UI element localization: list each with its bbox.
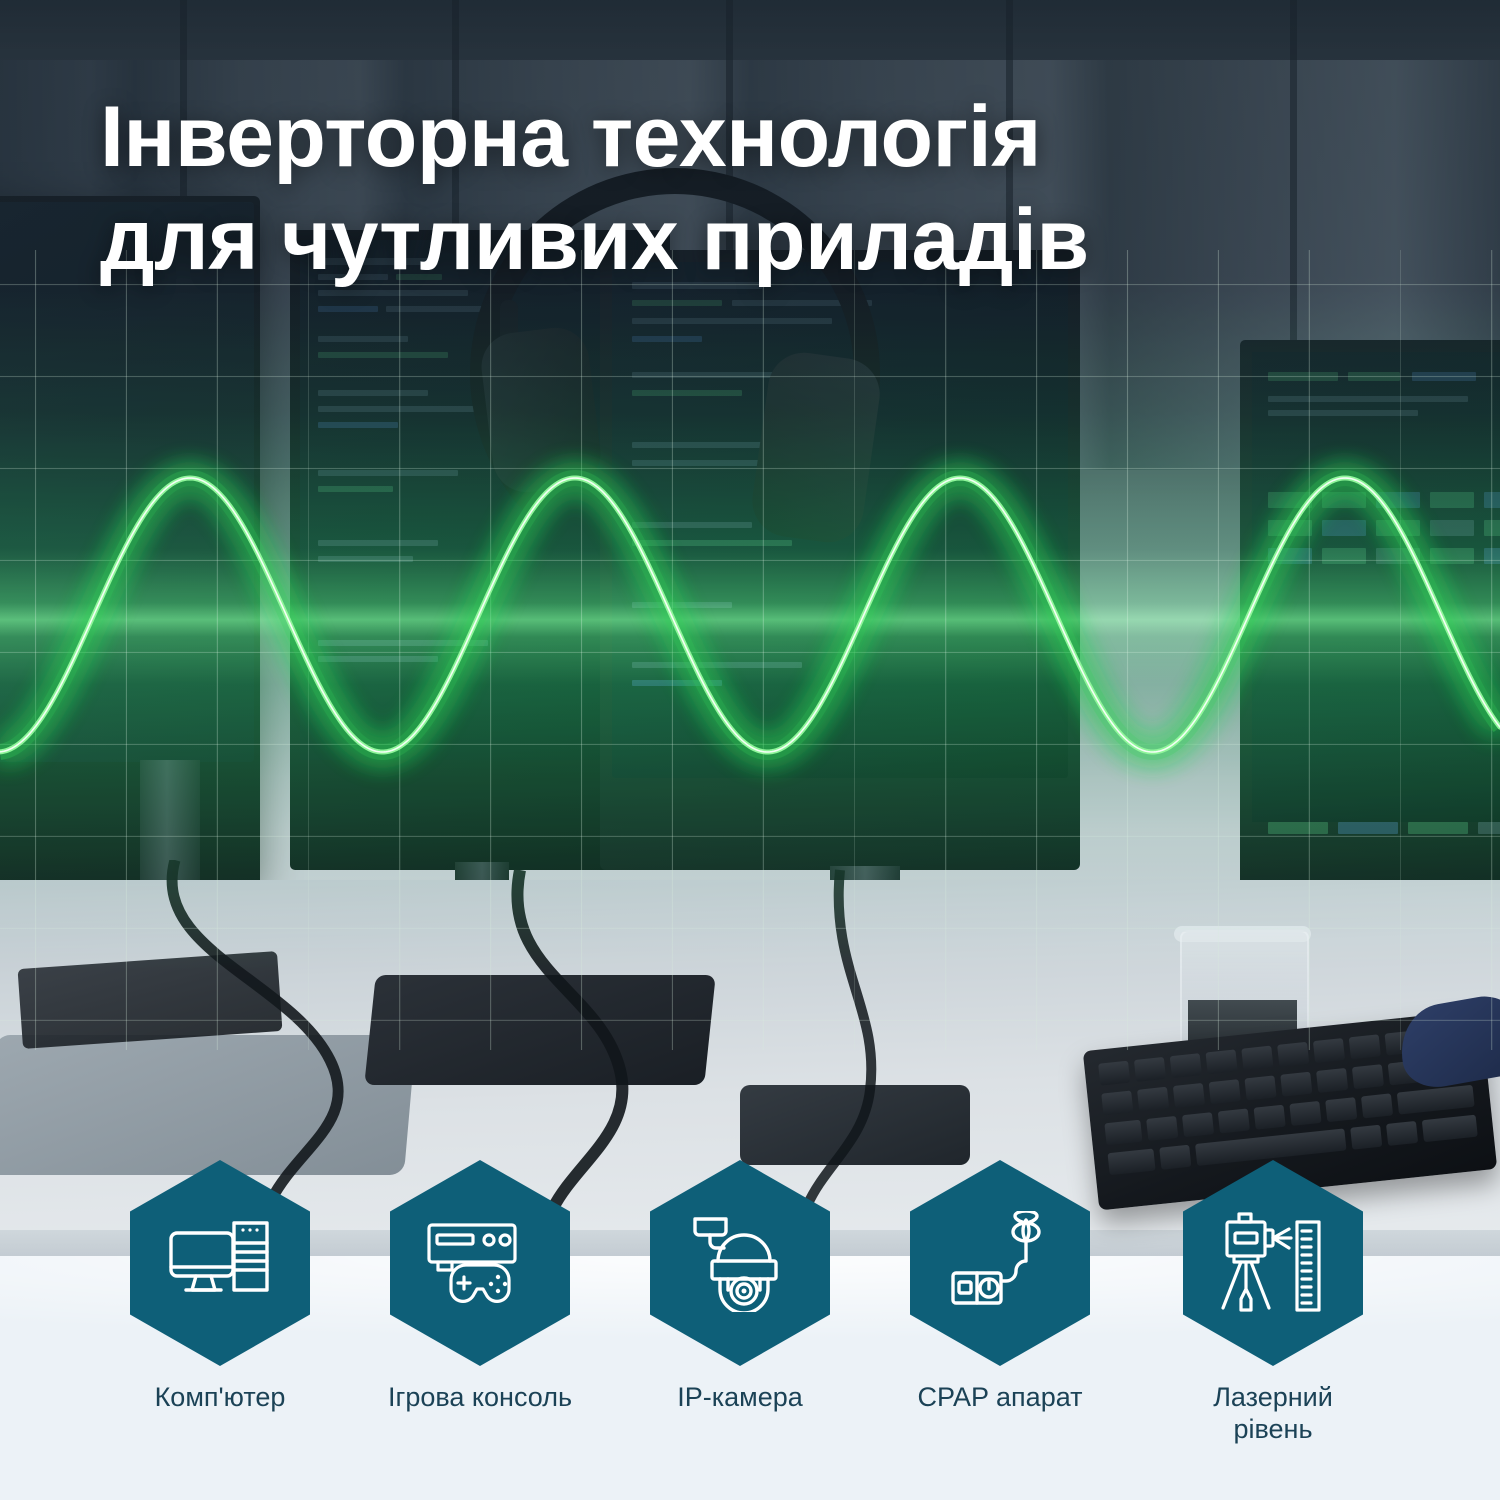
title-line-2: для чутливих приладів [100,189,1300,292]
hexagon-shape-laser [1183,1160,1363,1366]
badge-laser-level[interactable]: Лазерний рівень [1173,1160,1373,1446]
cpap-machine-icon [948,1211,1052,1315]
ip-dome-camera-icon [690,1214,790,1312]
sine-wave-path [0,478,1500,752]
badge-computer[interactable]: Комп'ютер [120,1160,320,1414]
badge-cpap[interactable]: CPAP апарат [900,1160,1100,1414]
title-line-1: Інверторна технологія [100,89,1041,185]
hexagon-shape-computer [130,1160,310,1366]
poster-root: Інверторна технологія для чутливих прила… [0,0,1500,1500]
device-badge-row: Комп'ютер Ігрова консоль [0,1160,1500,1500]
badge-ip-camera[interactable]: IP-камера [640,1160,840,1414]
badge-label-ip-camera: IP-камера [640,1382,840,1414]
hexagon-shape-console [390,1160,570,1366]
badge-label-laser-level-line1: Лазерний [1213,1382,1333,1412]
badge-label-cpap: CPAP апарат [900,1382,1100,1414]
laser-level-icon [1219,1211,1327,1315]
desktop-computer-icon [168,1217,272,1309]
badge-label-laser-level-line2: рівень [1233,1414,1312,1444]
hexagon-shape-camera [650,1160,830,1366]
hexagon-shape-cpap [910,1160,1090,1366]
badge-game-console[interactable]: Ігрова консоль [380,1160,580,1414]
badge-label-computer: Комп'ютер [120,1382,320,1414]
page-title: Інверторна технологія для чутливих прила… [100,86,1300,292]
badge-label-laser-level: Лазерний рівень [1173,1382,1373,1446]
badge-label-game-console: Ігрова консоль [380,1382,580,1414]
sine-wave-chart [0,290,1500,970]
game-console-icon [426,1217,534,1309]
